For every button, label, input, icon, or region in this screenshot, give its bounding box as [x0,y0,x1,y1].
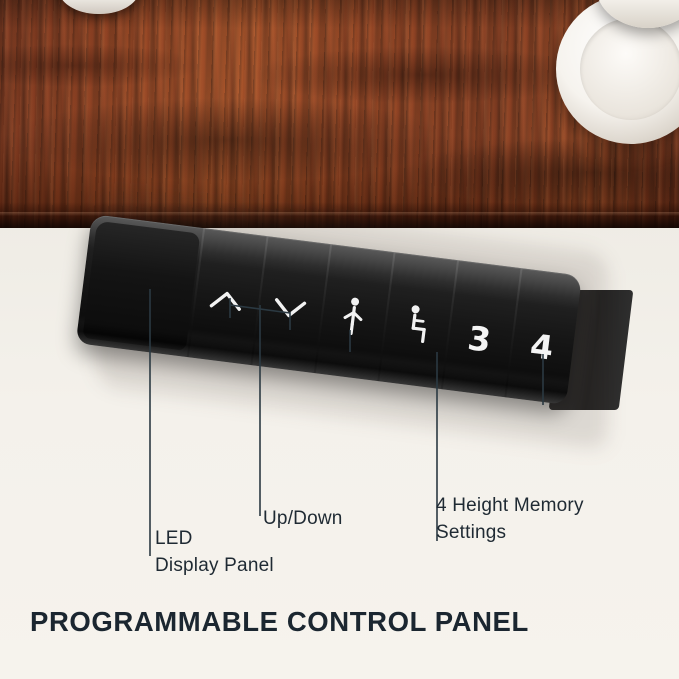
sitting-person-icon [400,302,433,350]
product-photo: 3 4 Up/Down LED Display Panel 4 Height M… [0,0,679,679]
page-title: PROGRAMMABLE CONTROL PANEL [30,606,529,638]
memory-key-3-label: 3 [466,318,494,360]
annotation-up-down: Up/Down [263,505,343,532]
chevron-down-icon [271,295,308,326]
standing-person-icon [337,295,368,343]
annotation-memory-settings: 4 Height Memory Settings [436,492,584,546]
memory-key-4-label: 4 [528,326,556,368]
chevron-up-icon [207,287,244,318]
annotation-led-display: LED Display Panel [155,525,274,579]
